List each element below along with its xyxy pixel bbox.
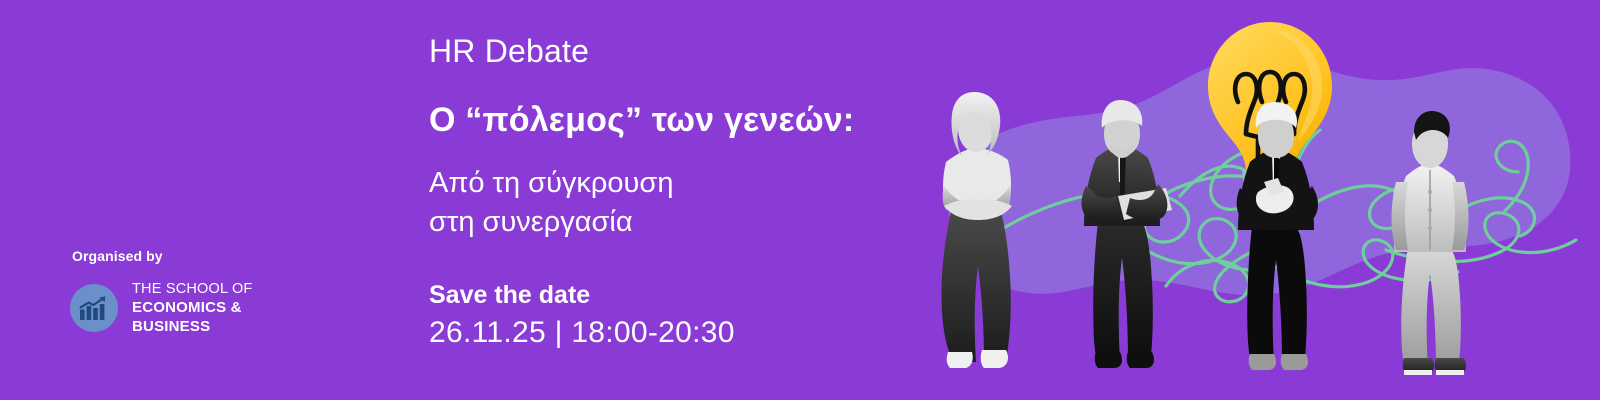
banner-copy: HR Debate Ο “πόλεμος” των γενεών: Από τη…	[429, 34, 899, 351]
event-headline: Ο “πόλεμος” των γενεών:	[429, 101, 899, 140]
organiser-logo: THE SCHOOL OF ECONOMICS & BUSINESS	[70, 280, 330, 337]
event-datetime: 26.11.25 | 18:00-20:30	[429, 316, 899, 351]
organiser-name-line-3: BUSINESS	[132, 318, 210, 335]
event-subhead-line-2: στη συνεργασία	[429, 203, 899, 242]
organiser-name: THE SCHOOL OF ECONOMICS & BUSINESS	[132, 280, 253, 337]
organiser-block: Organised by THE SCHOOL OF ECONOMICS &	[70, 248, 330, 337]
save-the-date-label: Save the date	[429, 281, 899, 310]
event-banner: HR Debate Ο “πόλεμος” των γενεών: Από τη…	[0, 0, 1600, 400]
event-eyebrow: HR Debate	[429, 34, 899, 69]
organiser-name-line-2: ECONOMICS &	[132, 299, 242, 316]
event-subhead-line-1: Από τη σύγκρουση	[429, 164, 899, 203]
organised-by-label: Organised by	[72, 248, 330, 264]
bar-chart-growth-icon	[70, 284, 118, 332]
banner-artwork	[880, 0, 1600, 400]
event-subhead: Από τη σύγκρουση στη συνεργασία	[429, 164, 899, 241]
organiser-name-line-1: THE SCHOOL OF	[132, 281, 253, 297]
